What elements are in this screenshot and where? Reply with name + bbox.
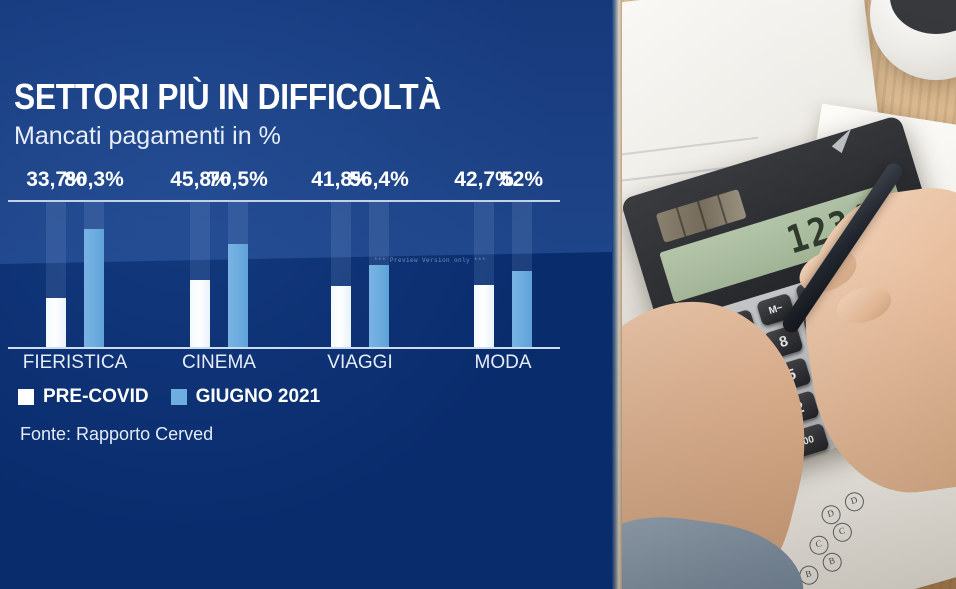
bar-cinema-giugno-2021 — [228, 244, 248, 348]
chart-legend: PRE-COVIDGIUGNO 2021 — [18, 386, 320, 408]
bar-fieristica-pre-covid — [46, 298, 66, 348]
chart-subtitle: Mancati pagamenti in % — [14, 122, 281, 151]
bar-cinema-pre-covid — [190, 280, 210, 348]
category-label-moda: MODA — [475, 352, 532, 374]
category-label-viaggi: VIAGGI — [327, 352, 392, 374]
mug-opening — [890, 0, 956, 34]
category-label-cinema: CINEMA — [182, 352, 256, 374]
chart-source: Fonte: Rapporto Cerved — [20, 424, 213, 445]
bar-viaggi-giugno-2021 — [369, 265, 389, 348]
preview-watermark: *** Preview Version only *** — [374, 257, 486, 264]
chart-plot-area — [0, 200, 580, 348]
axis-baseline — [8, 347, 560, 349]
bar-fieristica-giugno-2021 — [84, 229, 104, 348]
legend-swatch-icon — [171, 389, 187, 405]
value-label: 52% — [501, 168, 543, 192]
legend-item-giugno-2021: GIUGNO 2021 — [171, 386, 321, 408]
calculator-photo: 58. 59. 60. A B A A A D D C C B B — [612, 0, 956, 589]
bar-viaggi-pre-covid — [331, 286, 351, 348]
panel-divider — [612, 0, 622, 589]
infographic-panel: SETTORI PIÙ IN DIFFICOLTÀ Mancati pagame… — [0, 0, 612, 589]
legend-swatch-icon — [18, 389, 34, 405]
legend-item-pre-covid: PRE-COVID — [18, 386, 149, 408]
screenshot-root: SETTORI PIÙ IN DIFFICOLTÀ Mancati pagame… — [0, 0, 956, 589]
bar-moda-giugno-2021 — [512, 271, 532, 348]
bar-moda-pre-covid — [474, 285, 494, 348]
value-label: 80,3% — [64, 168, 124, 192]
value-label-row: 33,7%80,3%45,8%70,5%41,8%56,4%42,7%52% — [0, 168, 580, 196]
legend-label: GIUGNO 2021 — [196, 386, 321, 408]
legend-label: PRE-COVID — [43, 386, 149, 408]
value-label: 70,5% — [208, 168, 268, 192]
category-label-row: FIERISTICACINEMAVIAGGIMODA — [0, 352, 580, 378]
value-label: 56,4% — [349, 168, 409, 192]
chart-title: SETTORI PIÙ IN DIFFICOLTÀ — [14, 76, 441, 118]
category-label-fieristica: FIERISTICA — [23, 352, 128, 374]
